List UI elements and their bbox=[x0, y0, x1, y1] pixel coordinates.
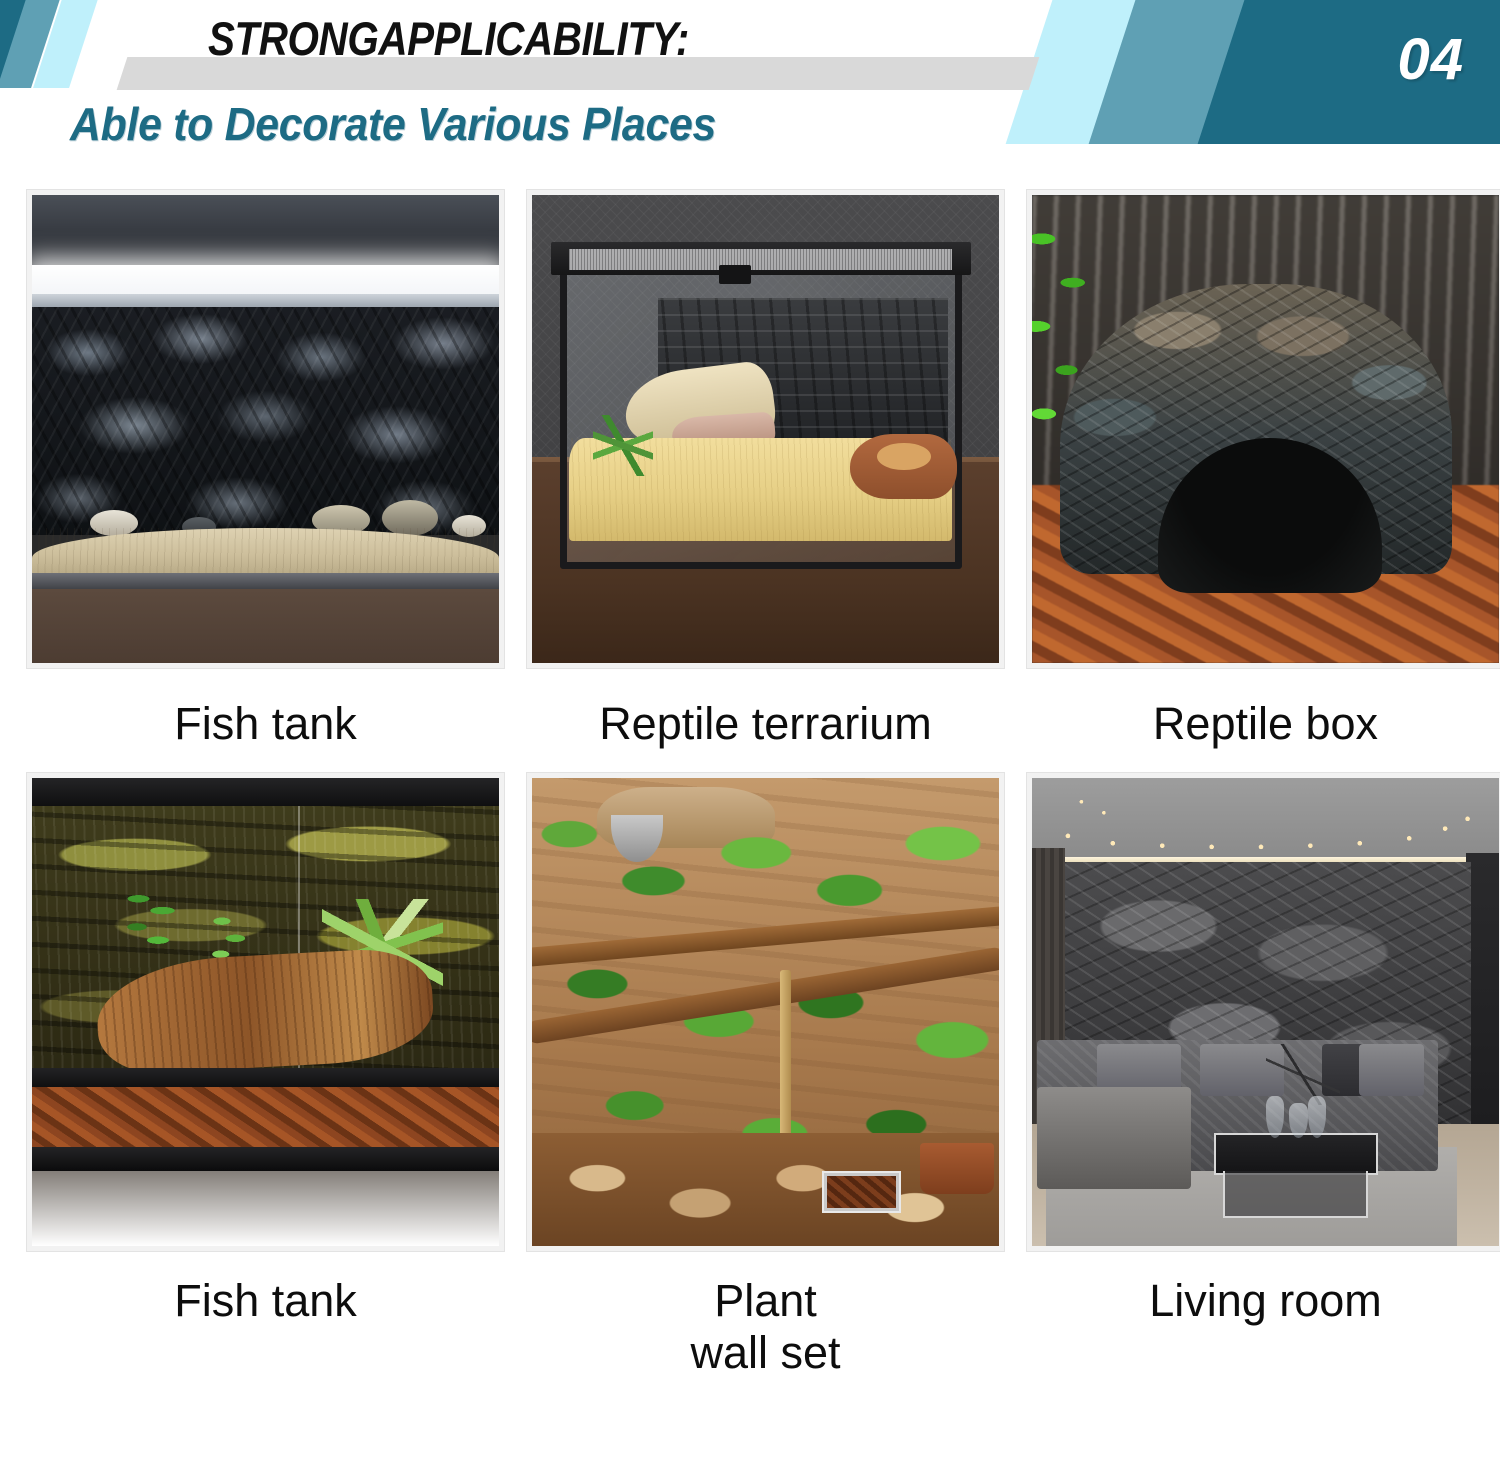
caption-label: Reptile terrarium bbox=[527, 668, 1004, 751]
feeding-tray-icon bbox=[822, 1171, 901, 1213]
caption-label: Fish tank bbox=[27, 1251, 504, 1328]
terrarium-latch-icon bbox=[719, 265, 752, 284]
plant-pot-icon bbox=[920, 1143, 995, 1194]
caption-label: Reptile box bbox=[1027, 668, 1500, 751]
vase-icon bbox=[1289, 1103, 1308, 1138]
photo-reptile-box bbox=[1027, 190, 1500, 668]
photo-fish-tank-mossy-rock bbox=[27, 773, 504, 1251]
applications-gallery: Fish tank bbox=[0, 190, 1500, 1380]
photo-living-room bbox=[1027, 773, 1500, 1251]
step-number-badge: 04 bbox=[1397, 26, 1464, 93]
gallery-cell-plant-wall-set: Plant wall set bbox=[527, 773, 1004, 1380]
page-header: 04 STRONGAPPLICABILITY: Able to Decorate… bbox=[0, 0, 1500, 190]
gallery-cell-fish-tank-2: Fish tank bbox=[27, 773, 504, 1380]
photo-fish-tank-dark-rock bbox=[27, 190, 504, 668]
caption-label: Plant wall set bbox=[527, 1251, 1004, 1380]
gallery-row-1: Fish tank bbox=[0, 190, 1500, 751]
succulent-plant-icon bbox=[593, 415, 654, 476]
gallery-cell-reptile-box: Reptile box bbox=[1027, 190, 1500, 751]
gallery-row-2: Fish tank Plant wall set bbox=[0, 773, 1500, 1380]
caption-label: Living room bbox=[1027, 1251, 1500, 1328]
water-bowl-icon bbox=[850, 434, 957, 500]
ceiling-spotlights-icon bbox=[1041, 792, 1489, 853]
photo-plant-wall-set bbox=[527, 773, 1004, 1251]
gallery-cell-fish-tank-1: Fish tank bbox=[27, 190, 504, 751]
caption-label: Fish tank bbox=[27, 668, 504, 751]
page-subtitle: Able to Decorate Various Places bbox=[70, 97, 716, 151]
gallery-cell-living-room: Living room bbox=[1027, 773, 1500, 1380]
coffee-table-icon bbox=[1214, 1133, 1377, 1175]
gallery-cell-reptile-terrarium: Reptile terrarium bbox=[527, 190, 1004, 751]
page-title: STRONGAPPLICABILITY: bbox=[208, 11, 689, 66]
photo-reptile-terrarium bbox=[527, 190, 1004, 668]
